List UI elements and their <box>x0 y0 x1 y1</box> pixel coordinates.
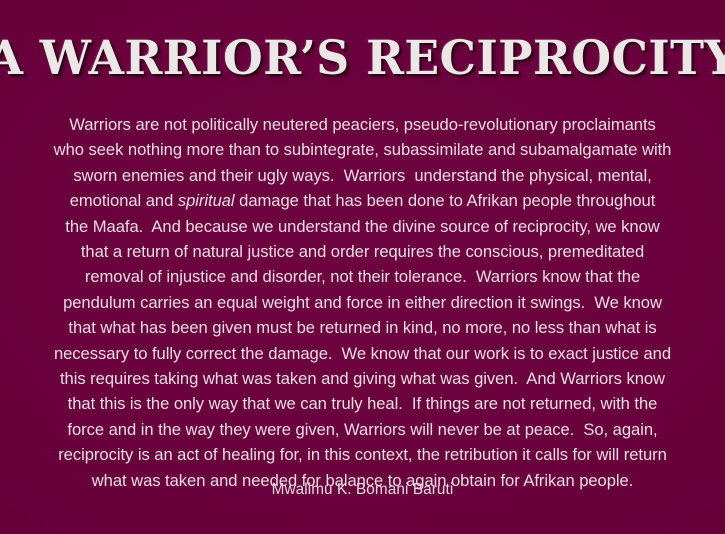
quote-line: removal of injustice and disorder, not t… <box>6 264 719 289</box>
quote-line: force and in the way they were given, Wa… <box>6 417 719 442</box>
quote-line: reciprocity is an act of healing for, in… <box>6 442 719 467</box>
quote-line: this requires taking what was taken and … <box>6 366 719 391</box>
quote-body: Warriors are not politically neutered pe… <box>0 112 725 493</box>
title-container: A WARRIOR’S RECIPROCITY <box>0 26 725 90</box>
quote-line: that this is the only way that we can tr… <box>6 391 719 416</box>
quote-line-prefix: emotional and <box>70 191 178 210</box>
quote-attribution: Mwalimu K. Bomani Baruti <box>0 480 725 500</box>
quote-line: sworn enemies and their ugly ways. Warri… <box>6 163 719 188</box>
quote-line: necessary to fully correct the damage. W… <box>6 341 719 366</box>
quote-line-suffix: damage that has been done to Afrikan peo… <box>235 191 656 210</box>
quote-line: who seek nothing more than to subintegra… <box>6 137 719 162</box>
page-title: A WARRIOR’S RECIPROCITY <box>0 35 725 82</box>
quote-line: that what has been given must be returne… <box>6 315 719 340</box>
quote-line: pendulum carries an equal weight and for… <box>6 290 719 315</box>
quote-line: Warriors are not politically neutered pe… <box>6 112 719 137</box>
quote-line: that a return of natural justice and ord… <box>6 239 719 264</box>
quote-poster: A WARRIOR’S RECIPROCITY Warriors are not… <box>0 0 725 534</box>
quote-line-with-emphasis: emotional and spiritual damage that has … <box>6 188 719 213</box>
quote-line: the Maafa. And because we understand the… <box>6 214 719 239</box>
emphasized-word: spiritual <box>178 191 235 210</box>
